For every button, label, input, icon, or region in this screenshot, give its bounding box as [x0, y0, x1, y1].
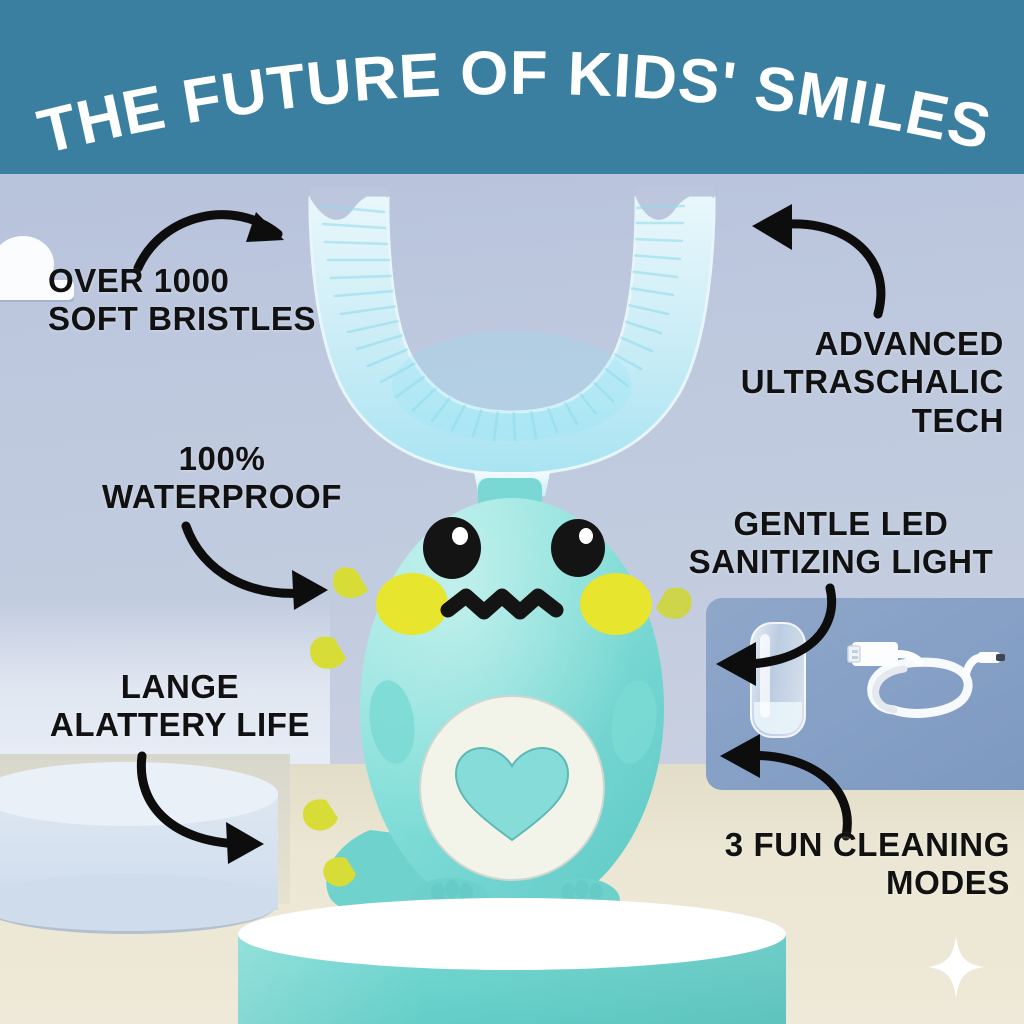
feature-line: OVER 1000: [48, 262, 316, 300]
podium-left-rim: [0, 880, 274, 934]
podium-main: [238, 898, 786, 1024]
feature-label-100-percent-waterproof: 100% WATERPROOF: [72, 440, 372, 517]
feature-line: MODES: [680, 864, 1010, 902]
feature-label-3-fun-cleaning-modes: 3 FUN CLEANING MODES: [680, 826, 1010, 903]
infographic-canvas: THE FUTURE OF KIDS' SMILES OVER 1000 SOF…: [0, 0, 1024, 1024]
podium-main-top: [238, 898, 786, 970]
feature-label-over-1000-soft-bristles: OVER 1000 SOFT BRISTLES: [48, 262, 316, 339]
sparkle-decoration: [928, 936, 984, 998]
feature-line: GENTLE LED: [676, 505, 1006, 543]
feature-line: SANITIZING LIGHT: [676, 543, 1006, 581]
feature-line: ULTRASCHALIC: [664, 363, 1004, 401]
feature-label-advanced-ultrasonic-tech: ADVANCED ULTRASCHALIC TECH: [664, 325, 1004, 440]
arrow-to-uv-case: [700, 582, 850, 694]
feature-line: TECH: [664, 402, 1004, 440]
dinosaur-handle: [300, 470, 720, 940]
arrow-to-dino-tail: [128, 752, 288, 872]
arrow-to-dino-body: [176, 520, 346, 616]
feature-label-gentle-led-sanitizing-light: GENTLE LED SANITIZING LIGHT: [676, 505, 1006, 582]
feature-line: 100%: [72, 440, 372, 478]
feature-line: ADVANCED: [664, 325, 1004, 363]
feature-line: 3 FUN CLEANING: [680, 826, 1010, 864]
feature-line: SOFT BRISTLES: [48, 300, 316, 338]
feature-line: ALATTERY LIFE: [20, 706, 340, 744]
banner-arc-svg: THE FUTURE OF KIDS' SMILES: [0, 0, 1024, 174]
feature-line: WATERPROOF: [72, 478, 372, 516]
feature-line: LANGE: [20, 668, 340, 706]
usb-charging-cable: [846, 624, 1006, 744]
arrow-to-brush-head-right: [722, 196, 902, 322]
feature-label-large-battery-life: LANGE ALATTERY LIFE: [20, 668, 340, 745]
arrow-to-usb-cable: [696, 716, 866, 842]
header-banner: THE FUTURE OF KIDS' SMILES: [0, 0, 1024, 174]
banner-headline: THE FUTURE OF KIDS' SMILES: [32, 39, 998, 167]
